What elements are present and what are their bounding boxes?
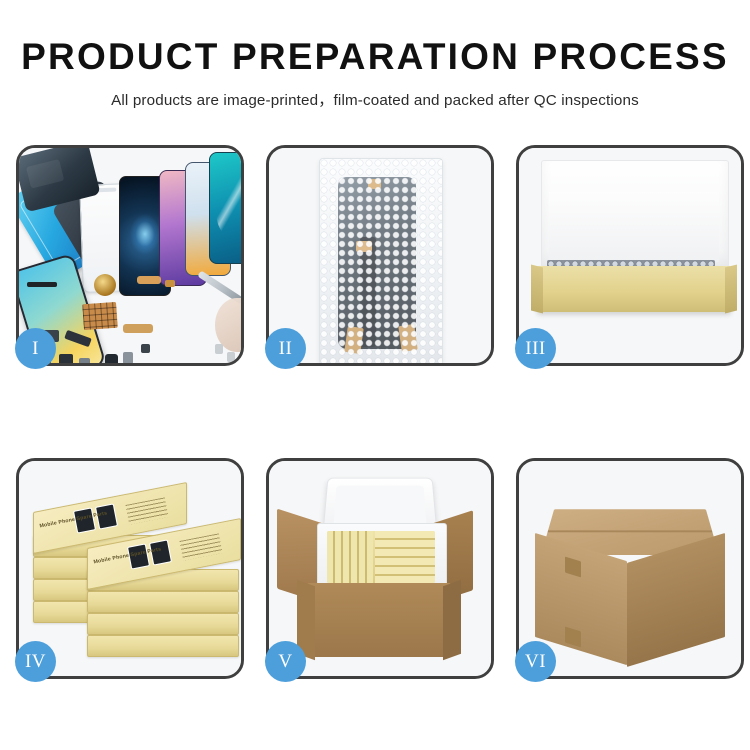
box-stack-icon: Mobile Phone Spare Parts Mobile Phone Sp… [27,475,239,665]
step-image-6 [519,461,741,676]
step-badge-1: I [15,328,56,369]
carton-body-icon [307,583,451,657]
step-panel-5: V [266,458,494,679]
step-badge-4: IV [15,641,56,682]
step-badge-5: V [265,641,306,682]
screw-icon [215,344,223,354]
bubble-texture-icon [320,159,442,363]
small-connector-icon [165,280,175,287]
phone-teal-icon [209,152,241,264]
step-panel-2: II [266,145,494,366]
bubble-wrap-bag-icon [319,158,443,363]
speaker-module-icon [94,274,116,296]
step-image-5 [269,461,491,676]
screw-icon [227,352,235,362]
gold-flex-icon [123,324,153,333]
step-image-4: Mobile Phone Spare Parts Mobile Phone Sp… [19,461,241,676]
page-header: PRODUCT PREPARATION PROCESS All products… [0,0,750,110]
step-panel-4: Mobile Phone Spare Parts Mobile Phone Sp… [16,458,244,679]
stacked-box-icon [87,635,239,657]
camera-module-icon [59,354,73,363]
vibration-motor-icon [105,354,118,363]
step-image-1 [19,148,241,363]
step-badge-2: II [265,328,306,369]
chip-array-icon [82,302,118,330]
step-image-3 [519,148,741,363]
page-title: PRODUCT PREPARATION PROCESS [0,38,750,77]
stacked-box-icon [87,591,239,613]
packed-yellow-boxes-icon [327,531,435,583]
step-badge-6: VI [515,641,556,682]
step-image-2 [269,148,491,363]
yellow-inner-box-icon [537,266,731,312]
sim-tray-icon [123,352,133,363]
step-panel-6: VI [516,458,744,679]
screw-cap-icon [141,344,150,353]
step-badge-3: III [515,328,556,369]
step-panel-1: I [16,145,244,366]
stacked-box-icon [87,613,239,635]
product-preparation-page: PRODUCT PREPARATION PROCESS All products… [0,0,750,750]
foam-sheet-icon [549,192,719,262]
flex-cable-icon [27,282,57,287]
step-panel-3: III [516,145,744,366]
metal-bracket-icon [79,358,90,363]
page-subtitle: All products are image-printed，film-coat… [0,88,750,110]
process-step-grid: I II [16,145,736,679]
connector-strip-icon [137,276,161,284]
